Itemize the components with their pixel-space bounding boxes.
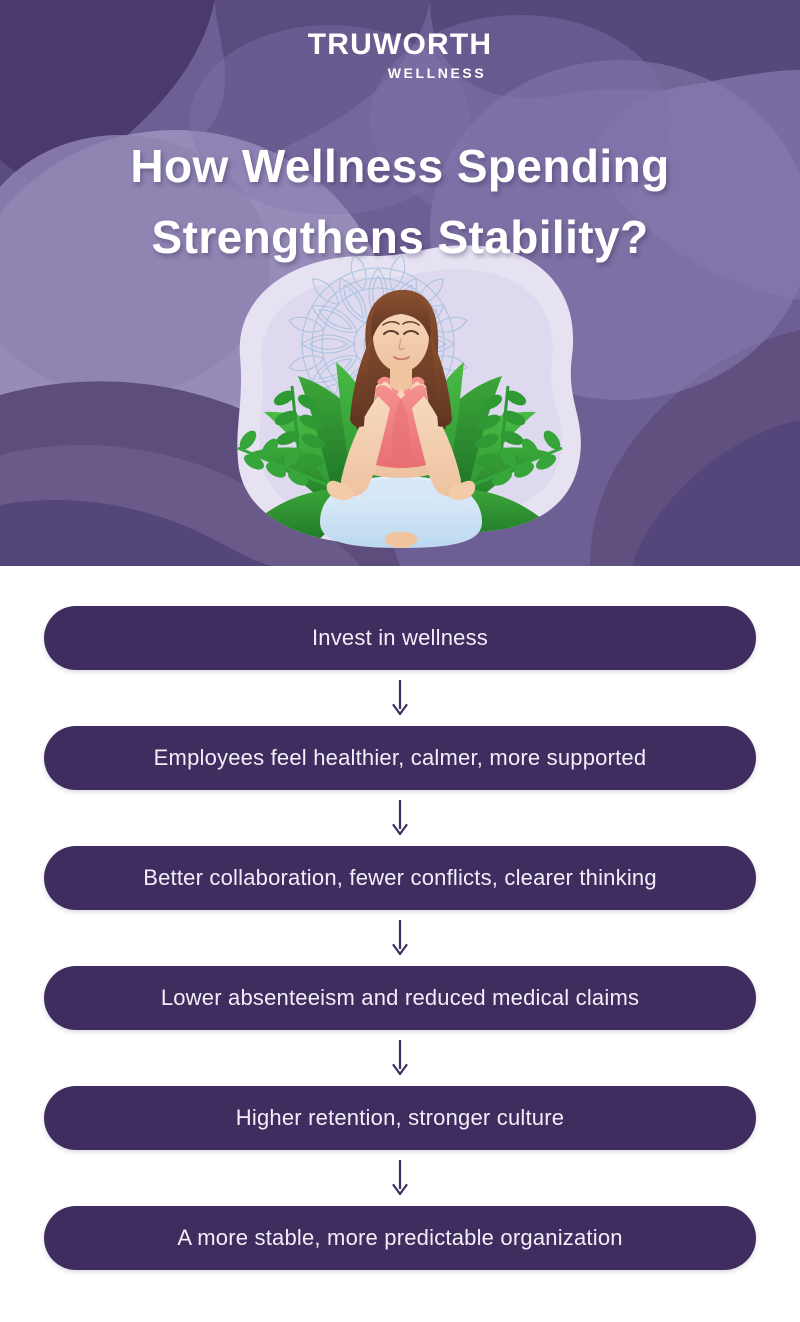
arrow-down-icon bbox=[380, 1030, 420, 1086]
brand-logo: TRUWORTH WELLNESS bbox=[0, 30, 800, 80]
flow-step-5: Higher retention, stronger culture bbox=[0, 1086, 800, 1206]
brand-logo-main: TRUWORTH bbox=[0, 30, 800, 60]
brand-logo-sub: WELLNESS bbox=[0, 66, 800, 80]
arrow-down-icon bbox=[380, 790, 420, 846]
flow-pill-higher-retention[interactable]: Higher retention, stronger culture bbox=[44, 1086, 756, 1150]
arrow-down-icon bbox=[380, 1150, 420, 1206]
arrow-down-icon bbox=[380, 670, 420, 726]
wellness-infographic: TRUWORTH WELLNESS How Wellness Spending … bbox=[0, 0, 800, 1322]
page-title-line-2: Strengthens Stability? bbox=[0, 202, 800, 273]
flow-section: Invest in wellness Employees feel health… bbox=[0, 566, 800, 1270]
page-title-line-1: How Wellness Spending bbox=[0, 131, 800, 202]
flow-step-3: Better collaboration, fewer conflicts, c… bbox=[0, 846, 800, 966]
meditation-illustration bbox=[180, 236, 620, 581]
flow-step-2: Employees feel healthier, calmer, more s… bbox=[0, 726, 800, 846]
flow-step-6: A more stable, more predictable organiza… bbox=[0, 1206, 800, 1270]
flow-pill-invest-in-wellness[interactable]: Invest in wellness bbox=[44, 606, 756, 670]
flow-pill-more-stable-organization[interactable]: A more stable, more predictable organiza… bbox=[44, 1206, 756, 1270]
flow-pill-employees-feel-healthier[interactable]: Employees feel healthier, calmer, more s… bbox=[44, 726, 756, 790]
flow-pill-lower-absenteeism[interactable]: Lower absenteeism and reduced medical cl… bbox=[44, 966, 756, 1030]
flow-pill-better-collaboration[interactable]: Better collaboration, fewer conflicts, c… bbox=[44, 846, 756, 910]
flow-step-4: Lower absenteeism and reduced medical cl… bbox=[0, 966, 800, 1086]
arrow-down-icon bbox=[380, 910, 420, 966]
flow-step-1: Invest in wellness bbox=[0, 606, 800, 726]
page-title: How Wellness Spending Strengthens Stabil… bbox=[0, 131, 800, 274]
